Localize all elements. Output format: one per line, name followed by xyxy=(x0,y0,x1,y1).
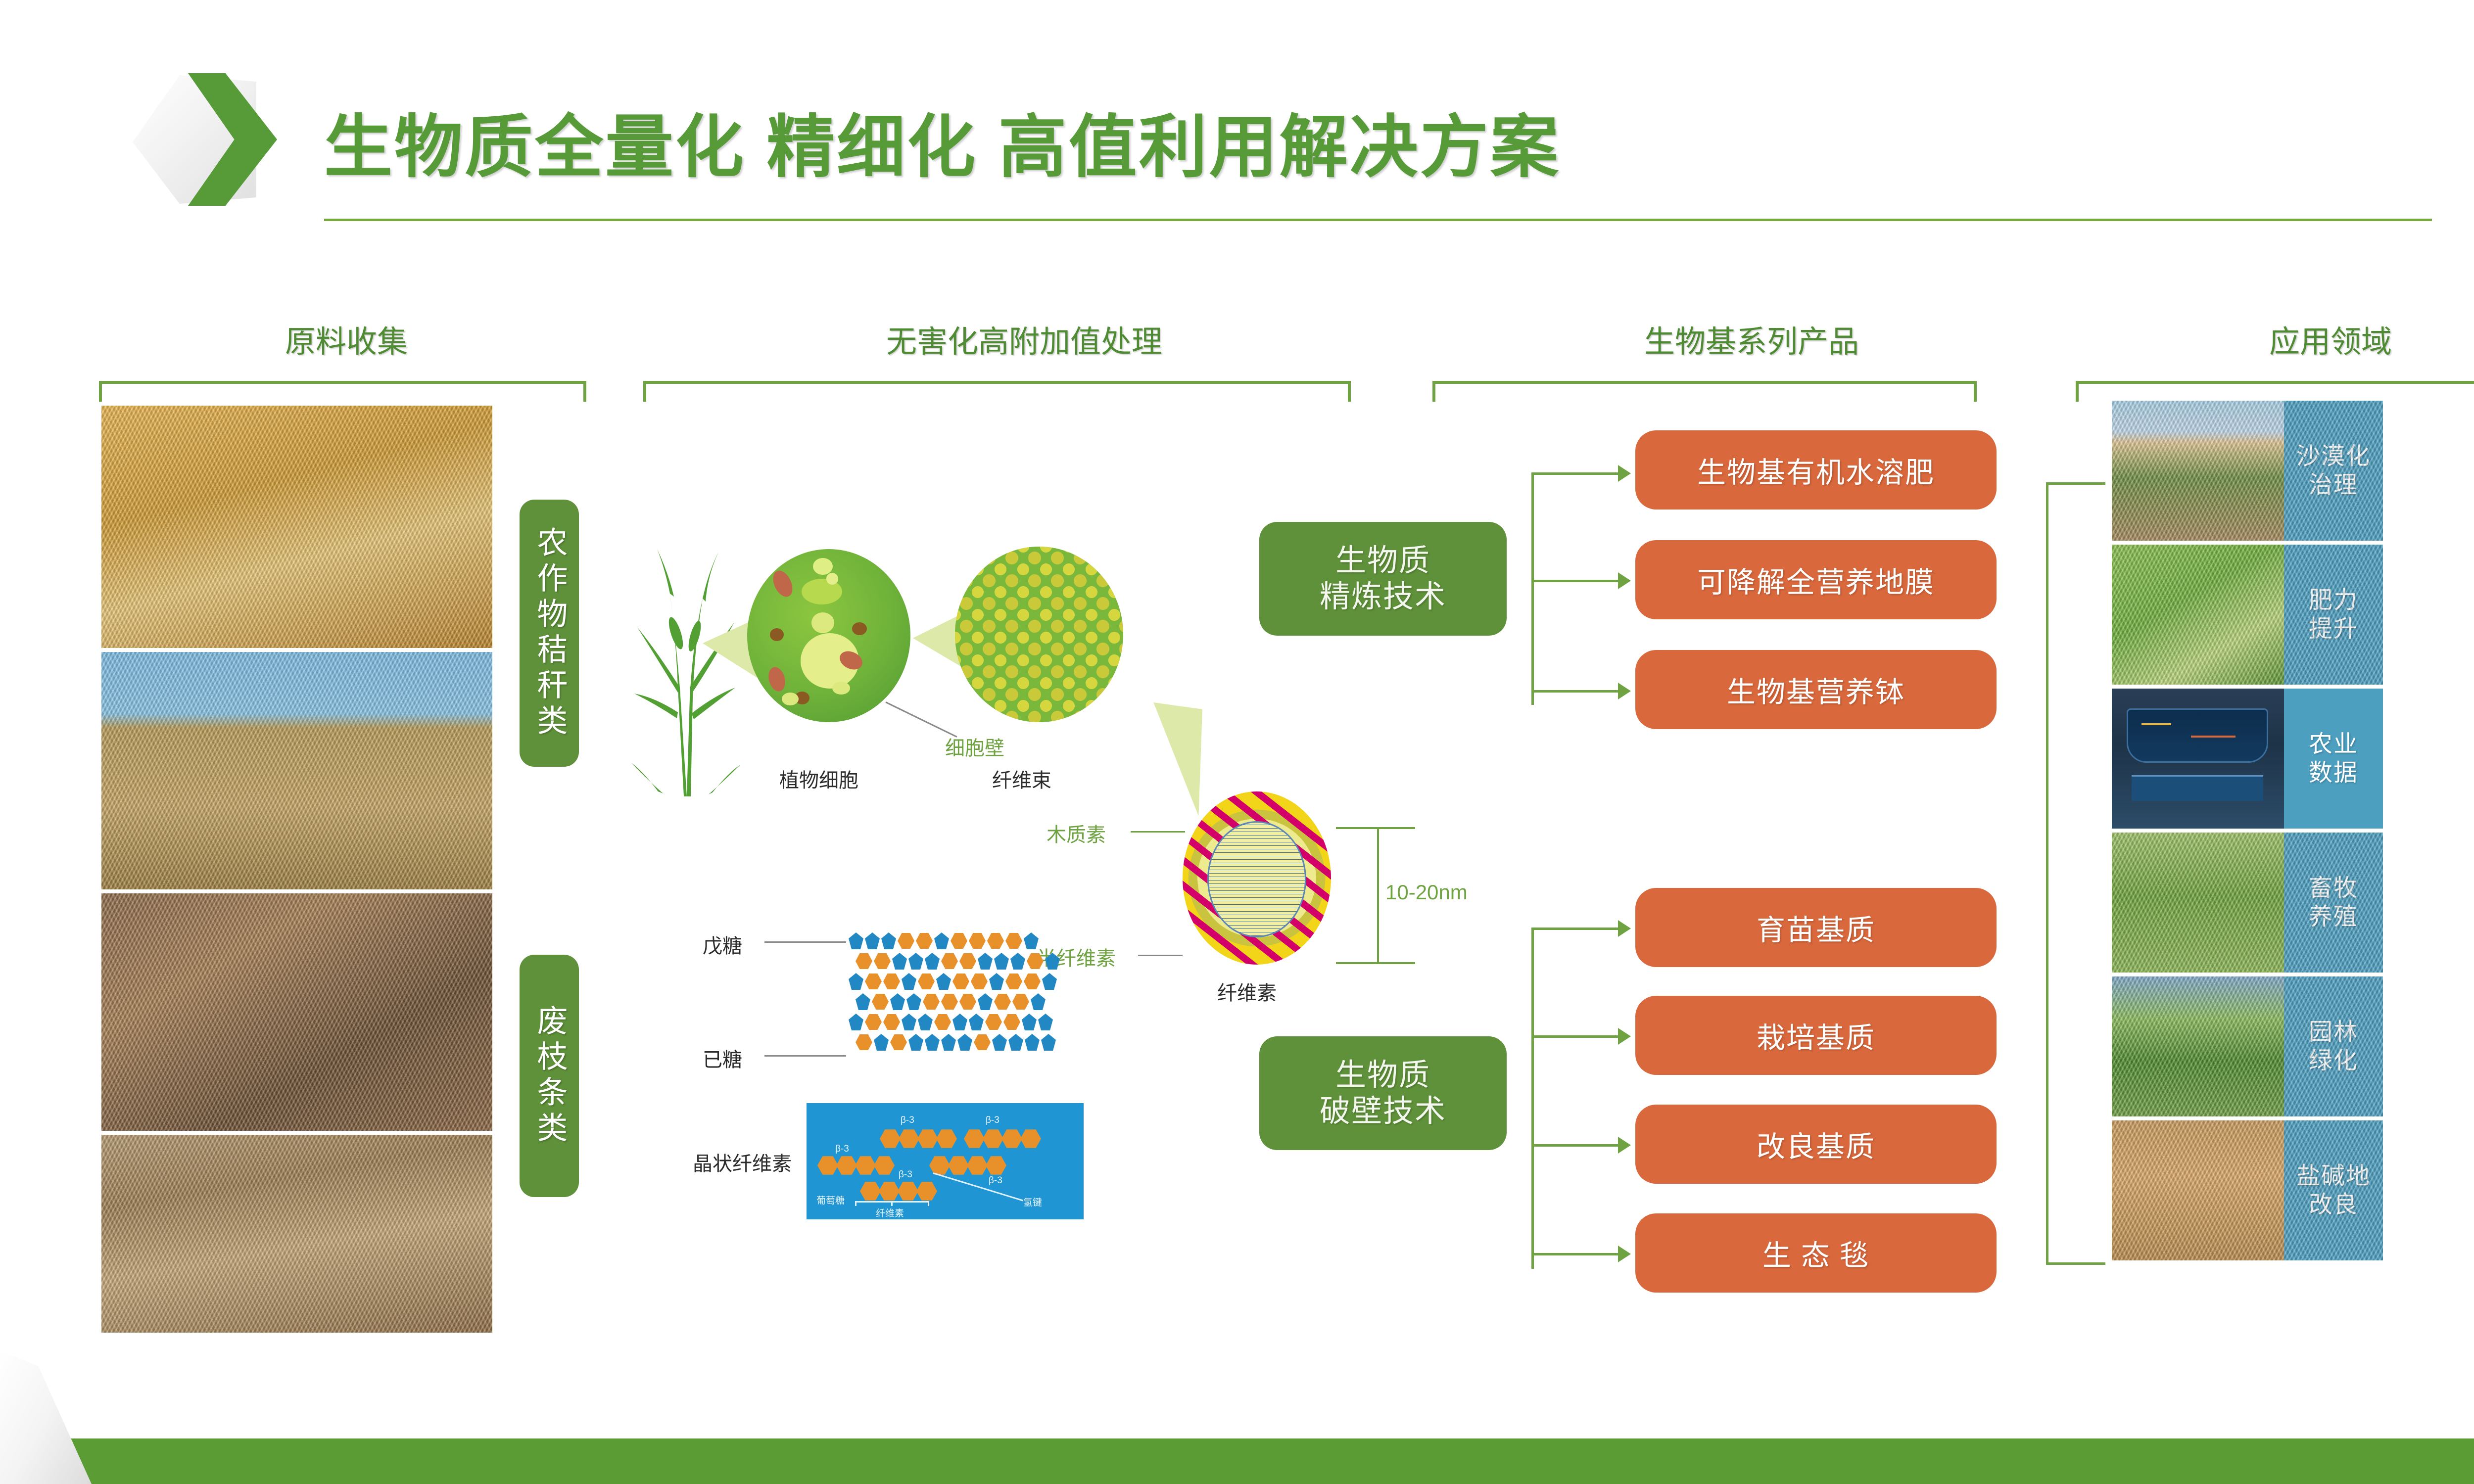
magnify-cone-3 xyxy=(1108,702,1202,816)
pentose-unit xyxy=(978,953,993,970)
hexose-unit xyxy=(1003,1014,1020,1030)
dimension-line xyxy=(1377,827,1379,964)
hexose-unit xyxy=(1024,973,1041,990)
arrow-head-icon xyxy=(1618,1137,1631,1154)
hexose-unit xyxy=(987,932,1004,949)
mitochondrion xyxy=(769,567,796,600)
pentose-unit xyxy=(906,993,921,1010)
tech-line-1: 生物质 xyxy=(1335,543,1430,579)
application-row-saline-land[interactable]: 盐碱地 改良 xyxy=(2112,1120,2383,1260)
annotation: β-3 xyxy=(989,1175,1002,1186)
arrow-head-icon xyxy=(1618,1028,1631,1045)
page-title: 生物质全量化 精细化 高值利用解决方案 xyxy=(324,92,1561,190)
cellulose-core xyxy=(1207,821,1306,937)
tag-line-1: 农业 xyxy=(2309,730,2358,759)
organelle xyxy=(826,573,838,585)
crystalline-cellulose-box: β-3 β-3 β-3 β-3 β-3 纤维素 葡萄糖 氢键 xyxy=(807,1103,1084,1219)
connector-applications-trunk xyxy=(2046,482,2048,1264)
product-box-nutrient-pot[interactable]: 生物基营养钵 xyxy=(1635,650,1997,729)
organelle xyxy=(832,682,850,695)
pentose-unit xyxy=(881,932,896,949)
connector-branch xyxy=(1531,1035,1620,1038)
tech-box-refining[interactable]: 生物质 精炼技术 xyxy=(1259,522,1507,636)
section-label: 生物基系列产品 xyxy=(1425,317,2078,361)
pentose-unit xyxy=(849,1014,863,1030)
connector-branch xyxy=(1531,472,1620,475)
photo-desert-greening xyxy=(2112,401,2284,541)
footer-wedge-decoration xyxy=(0,1350,92,1484)
photo-cabbage-field xyxy=(2112,545,2284,685)
sugar-chain-row xyxy=(856,1034,1056,1051)
connector-applications-bottom xyxy=(2046,1262,2105,1265)
connector-branch xyxy=(1531,1253,1620,1255)
hexose-unit xyxy=(951,932,967,949)
hexose-unit xyxy=(890,1034,907,1051)
pentose-unit xyxy=(902,973,916,990)
pentose-unit xyxy=(994,953,1009,970)
lignin-leader-line xyxy=(1131,831,1185,833)
application-row-fertility[interactable]: 肥力 提升 xyxy=(2112,545,2383,685)
product-box-seedling-substrate[interactable]: 育苗基质 xyxy=(1635,888,1997,967)
tech-line-2: 破壁技术 xyxy=(1320,1093,1446,1129)
label-cellulose: 纤维素 xyxy=(1217,977,1277,1006)
photo-straw-bale-field xyxy=(101,652,492,889)
pentose-unit xyxy=(865,932,880,949)
hexose-unit xyxy=(883,973,900,990)
pentose-unit xyxy=(1022,1014,1037,1030)
section-label: 应用领域 xyxy=(2063,317,2474,361)
connector-applications-top xyxy=(2046,482,2105,485)
annotation: β-3 xyxy=(901,1115,914,1126)
footer-bar xyxy=(0,1438,2474,1484)
tech-line-2: 精炼技术 xyxy=(1320,579,1446,615)
hexose-unit xyxy=(872,993,889,1010)
label-hexose: 已糖 xyxy=(703,1044,742,1072)
product-box-improvement-substrate[interactable]: 改良基质 xyxy=(1635,1105,1997,1184)
pentose-unit xyxy=(957,1034,972,1051)
mitochondrion xyxy=(766,665,788,694)
pentose-unit xyxy=(849,973,863,990)
label-dimension: 10-20nm xyxy=(1385,881,1468,904)
section-header-processing: 无害化高附加值处理 xyxy=(638,317,1410,361)
photo-landscape-greening xyxy=(2112,976,2284,1116)
title-underline-divider xyxy=(324,219,2432,221)
hexose-unit xyxy=(918,973,935,990)
connector-branch xyxy=(1531,927,1620,930)
product-box-ecological-blanket[interactable]: 生 态 毯 xyxy=(1635,1213,1997,1293)
sugar-chain-row xyxy=(856,953,1060,970)
photo-sheep-grazing xyxy=(2112,833,2284,973)
pentose-unit xyxy=(892,953,907,970)
hexose-unit xyxy=(856,1034,872,1051)
pentose-unit xyxy=(849,932,863,949)
organelle xyxy=(811,612,834,633)
hexose-unit xyxy=(865,973,882,990)
sugar-chain-row xyxy=(849,1014,1053,1030)
section-header-products: 生物基系列产品 xyxy=(1425,317,2078,361)
photo-vineyard-pruning xyxy=(101,1135,492,1333)
hexose-unit xyxy=(959,953,976,970)
connector-trunk-refining xyxy=(1531,472,1534,705)
annotation: 纤维素 xyxy=(876,1206,904,1219)
arrow-head-icon xyxy=(1618,572,1631,589)
label-pentose: 戊糖 xyxy=(703,930,742,959)
dimension-tick-bottom xyxy=(1336,962,1415,964)
organelle xyxy=(813,558,833,575)
hexose-unit xyxy=(923,993,940,1010)
connector-trunk-wallbreaking xyxy=(1531,927,1534,1269)
hexose-unit xyxy=(883,1014,900,1030)
photo-corn-stalk-field xyxy=(101,406,492,648)
pentose-unit xyxy=(902,1014,916,1030)
hexose-unit xyxy=(916,932,933,949)
tech-box-wallbreaking[interactable]: 生物质 破壁技术 xyxy=(1259,1036,1507,1150)
pentose-unit xyxy=(978,993,993,1010)
pentose-unit xyxy=(1045,953,1060,970)
hexose-unit xyxy=(941,953,958,970)
section-header-raw-material: 原料收集 xyxy=(99,317,594,361)
pentose-unit xyxy=(941,1034,956,1051)
photo-dry-branch-pile xyxy=(101,893,492,1131)
pentose-unit xyxy=(992,1034,1007,1051)
organelle xyxy=(782,693,799,705)
photo-agri-data-control-room xyxy=(2112,689,2284,829)
hexose-unit xyxy=(874,953,891,970)
pentose-unit xyxy=(1010,953,1025,970)
hexose-unit xyxy=(1005,932,1022,949)
pentose-unit xyxy=(952,1014,967,1030)
annotation: β-3 xyxy=(986,1115,999,1126)
annotation: β-3 xyxy=(835,1144,849,1155)
grass-plant-icon xyxy=(628,539,742,796)
pentose-leader-line xyxy=(764,941,846,943)
product-box-water-soluble-fertilizer[interactable]: 生物基有机水溶肥 xyxy=(1635,430,1997,510)
pentose-unit xyxy=(1042,973,1057,990)
sugar-chain-row xyxy=(849,973,1057,990)
label-lignin: 木质素 xyxy=(1047,819,1106,847)
photo-saline-alkali-land xyxy=(2112,1120,2284,1260)
sugar-chain-row xyxy=(849,932,1039,949)
arrow-head-icon xyxy=(1618,683,1631,699)
annotation: 氢键 xyxy=(1023,1195,1042,1208)
pentose-unit xyxy=(925,953,940,970)
tag-line-2: 数据 xyxy=(2309,759,2358,788)
category-tag-waste-branch: 废枝条类 xyxy=(520,955,579,1197)
connector-branch xyxy=(1531,1144,1620,1147)
hexose-unit xyxy=(969,932,986,949)
pentose-unit xyxy=(1041,1034,1056,1051)
annotation: 葡萄糖 xyxy=(816,1193,845,1206)
label-crystalline-cellulose: 晶状纤维素 xyxy=(693,1148,792,1176)
label-plant-cell: 植物细胞 xyxy=(779,764,858,793)
hexose-unit xyxy=(934,1014,951,1030)
hexose-unit xyxy=(974,1034,991,1051)
product-box-cultivation-substrate[interactable]: 栽培基质 xyxy=(1635,996,1997,1075)
hexose-unit xyxy=(865,1014,882,1030)
pentose-unit xyxy=(856,993,870,1010)
hexose-unit xyxy=(985,1014,1002,1030)
tech-line-1: 生物质 xyxy=(1335,1057,1430,1093)
hemicellulose-leader-line xyxy=(1138,955,1183,956)
hexose-unit xyxy=(1027,953,1044,970)
annotation: β-3 xyxy=(899,1169,912,1180)
hexose-unit xyxy=(971,973,988,990)
arrow-head-icon xyxy=(1618,1246,1631,1262)
hexose-unit xyxy=(1012,993,1029,1010)
category-tag-crop-straw: 农作物秸秆类 xyxy=(520,500,579,767)
hexose-unit xyxy=(994,993,1011,1010)
section-label: 无害化高附加值处理 xyxy=(638,317,1410,361)
pentose-unit xyxy=(1024,932,1039,949)
label-fiber-bundle: 纤维束 xyxy=(992,764,1051,793)
organelle xyxy=(770,628,784,641)
pentose-unit xyxy=(918,1014,933,1030)
plant-cell-illustration xyxy=(747,549,910,722)
pentose-unit xyxy=(936,973,951,990)
label-cell-wall: 细胞壁 xyxy=(945,732,1004,761)
pentose-unit xyxy=(1025,1034,1040,1051)
dimension-tick-top xyxy=(1336,827,1415,829)
hexose-unit xyxy=(1005,973,1022,990)
arrow-head-icon xyxy=(1618,465,1631,482)
bracket-processing xyxy=(643,381,1351,402)
application-tag-agri-data: 农业 数据 xyxy=(2284,689,2383,829)
section-label: 原料收集 xyxy=(99,317,594,361)
page-header: 生物质全量化 精细化 高值利用解决方案 xyxy=(0,0,2474,232)
pentose-unit xyxy=(1008,1034,1023,1051)
pentose-unit xyxy=(989,973,1004,990)
application-row-agri-data[interactable]: 农业 数据 xyxy=(2112,689,2383,829)
sugar-chain-row xyxy=(856,993,1046,1010)
application-row-landscaping[interactable]: 园林 绿化 xyxy=(2112,976,2383,1116)
pentose-unit xyxy=(1038,1014,1053,1030)
hexose-unit xyxy=(856,953,872,970)
pentose-unit xyxy=(1031,993,1046,1010)
pentose-unit xyxy=(890,993,905,1010)
connector-branch xyxy=(1531,690,1620,693)
pentose-unit xyxy=(908,1034,923,1051)
hexose-unit xyxy=(952,973,969,990)
hexose-leader-line xyxy=(764,1055,846,1057)
connector-branch xyxy=(1531,580,1620,582)
bracket-products xyxy=(1432,381,1977,402)
fiber-bundle-illustration xyxy=(955,547,1123,722)
pentose-unit xyxy=(925,1034,940,1051)
application-row-desertification[interactable]: 沙漠化 治理 xyxy=(2112,401,2383,541)
organelle xyxy=(852,622,867,635)
arrow-head-icon xyxy=(1618,920,1631,937)
hexose-unit xyxy=(959,993,976,1010)
hexose-unit xyxy=(898,932,914,949)
hexose-unit xyxy=(941,993,958,1010)
bracket-raw-material xyxy=(99,381,586,402)
pentose-unit xyxy=(908,953,923,970)
pentose-unit xyxy=(934,932,949,949)
section-header-applications: 应用领域 xyxy=(2063,317,2474,361)
pentose-unit xyxy=(969,1014,984,1030)
pentose-unit xyxy=(874,1034,889,1051)
product-box-biodegradable-mulch-film[interactable]: 可降解全营养地膜 xyxy=(1635,540,1997,619)
bracket-applications xyxy=(2076,381,2474,402)
application-row-livestock[interactable]: 畜牧 养殖 xyxy=(2112,833,2383,973)
